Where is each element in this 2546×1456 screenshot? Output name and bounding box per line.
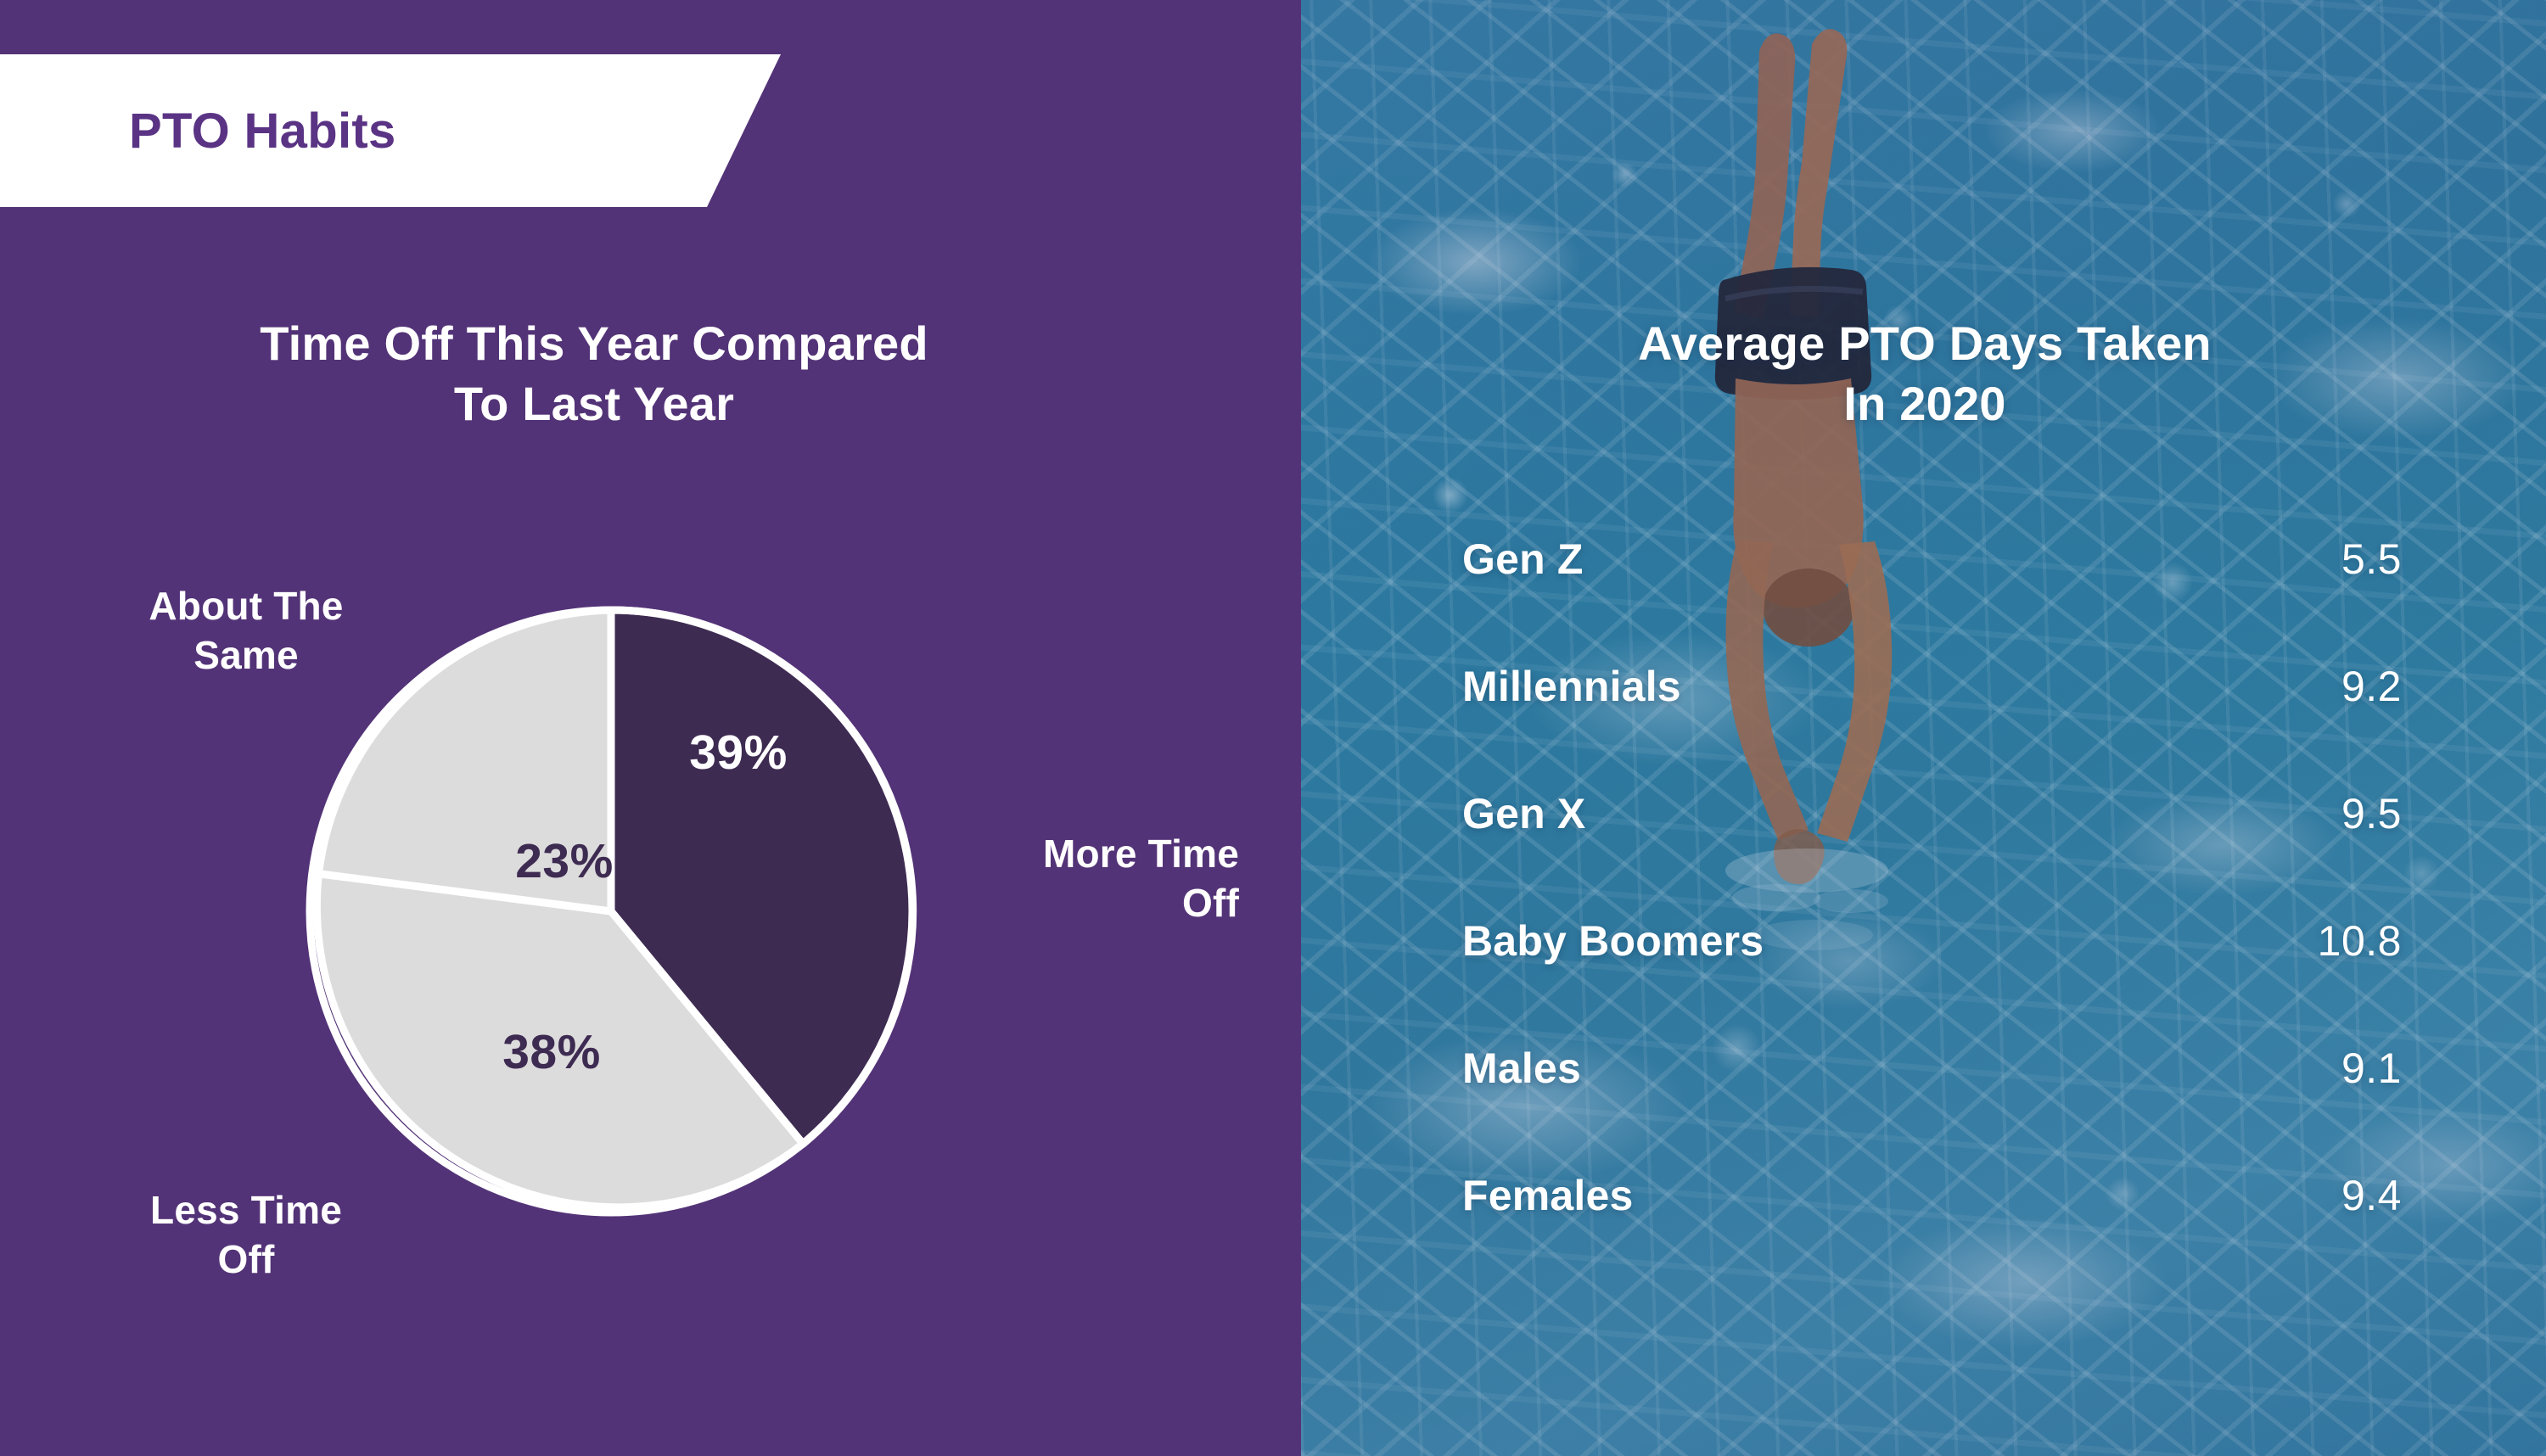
stats-title: Average PTO Days Taken In 2020	[1437, 314, 2413, 434]
list-item: Females 9.4	[1301, 1171, 2546, 1298]
pie-label-more-time-off-line2: Off	[883, 879, 1239, 928]
right-panel: Average PTO Days Taken In 2020 Gen Z 5.5…	[1301, 0, 2546, 1456]
pie-label-less-time-off: Less Time Off	[93, 1186, 399, 1284]
left-panel: PTO Habits Time Off This Year Compared T…	[0, 0, 1301, 1456]
stat-value: 9.5	[2341, 789, 2402, 838]
list-item: Gen X 9.5	[1301, 789, 2546, 916]
stat-value: 9.4	[2341, 1171, 2402, 1220]
stat-value: 9.1	[2341, 1044, 2402, 1093]
page-title: PTO Habits	[129, 103, 396, 160]
pie-label-more-time-off-line1: More Time	[883, 830, 1239, 879]
pie-value-about-the-same: 23%	[515, 834, 614, 888]
pie-chart-svg: 39% 23% 38%	[306, 606, 917, 1217]
stats-title-line1: Average PTO Days Taken	[1437, 314, 2413, 374]
list-item: Baby Boomers 10.8	[1301, 916, 2546, 1044]
pie-chart-title-line1: Time Off This Year Compared	[119, 314, 1069, 374]
stat-value: 10.8	[2318, 916, 2402, 966]
pie-chart-title-line2: To Last Year	[119, 374, 1069, 434]
pie-chart-title: Time Off This Year Compared To Last Year	[119, 314, 1069, 434]
header-banner: PTO Habits	[0, 54, 781, 207]
pie-label-less-time-off-line1: Less Time	[93, 1186, 399, 1235]
list-item: Gen Z 5.5	[1301, 535, 2546, 662]
pie-label-about-the-same-line1: About The	[93, 582, 399, 631]
infographic-root: PTO Habits Time Off This Year Compared T…	[0, 0, 2546, 1456]
stat-value: 9.2	[2341, 662, 2402, 711]
pie-chart: 39% 23% 38%	[306, 606, 917, 1217]
stats-title-line2: In 2020	[1437, 374, 2413, 434]
stat-label: Gen Z	[1462, 535, 1584, 584]
list-item: Males 9.1	[1301, 1044, 2546, 1171]
pie-label-about-the-same: About The Same	[93, 582, 399, 680]
stat-label: Baby Boomers	[1462, 916, 1764, 966]
stat-label: Females	[1462, 1171, 1634, 1220]
pto-days-list: Gen Z 5.5 Millennials 9.2 Gen X 9.5 Baby…	[1301, 535, 2546, 1298]
pie-label-less-time-off-line2: Off	[93, 1235, 399, 1285]
stat-label: Males	[1462, 1044, 1581, 1093]
stat-label: Gen X	[1462, 789, 1585, 838]
pie-label-about-the-same-line2: Same	[93, 631, 399, 680]
stat-value: 5.5	[2341, 535, 2402, 584]
pie-value-more-time-off: 39%	[689, 725, 788, 780]
pie-value-less-time-off: 38%	[502, 1025, 601, 1079]
stat-label: Millennials	[1462, 662, 1681, 711]
pie-label-more-time-off: More Time Off	[883, 830, 1239, 927]
list-item: Millennials 9.2	[1301, 662, 2546, 789]
